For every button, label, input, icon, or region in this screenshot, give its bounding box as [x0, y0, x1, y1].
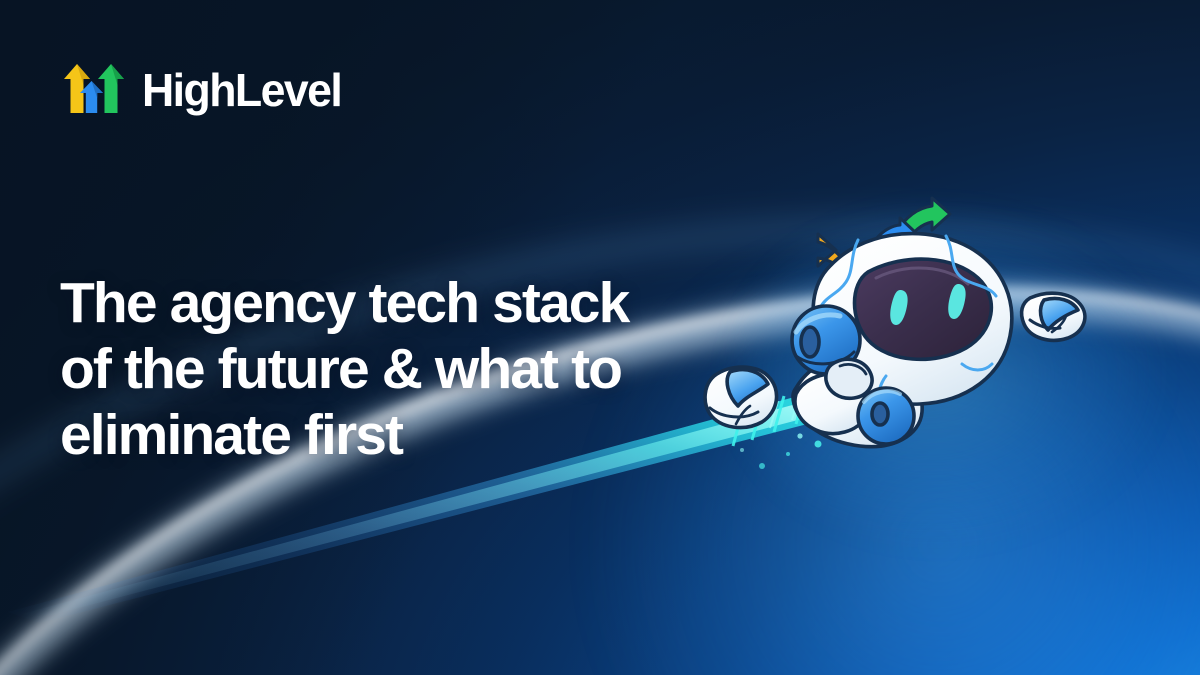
hero-banner: HighLevel The agency tech stack of the f…: [0, 0, 1200, 675]
headline-line-1: The agency tech stack: [60, 271, 760, 337]
three-ascending-arrows-logo: [58, 57, 130, 124]
logo-arrow-right: [98, 64, 124, 113]
brand-wordmark: HighLevel: [142, 67, 341, 113]
page-title: The agency tech stack of the future & wh…: [60, 271, 760, 468]
brand-logo[interactable]: HighLevel: [58, 55, 347, 125]
robot-hand-left: [705, 367, 776, 428]
headline-line-3: eliminate first: [60, 403, 760, 469]
flying-robot-mascot: [700, 180, 1170, 500]
robot-hand-right: [1022, 293, 1085, 340]
robot-shoulder-joint: [826, 359, 872, 398]
headline-line-2: of the future & what to: [60, 337, 760, 403]
robot-visor: [855, 259, 992, 359]
